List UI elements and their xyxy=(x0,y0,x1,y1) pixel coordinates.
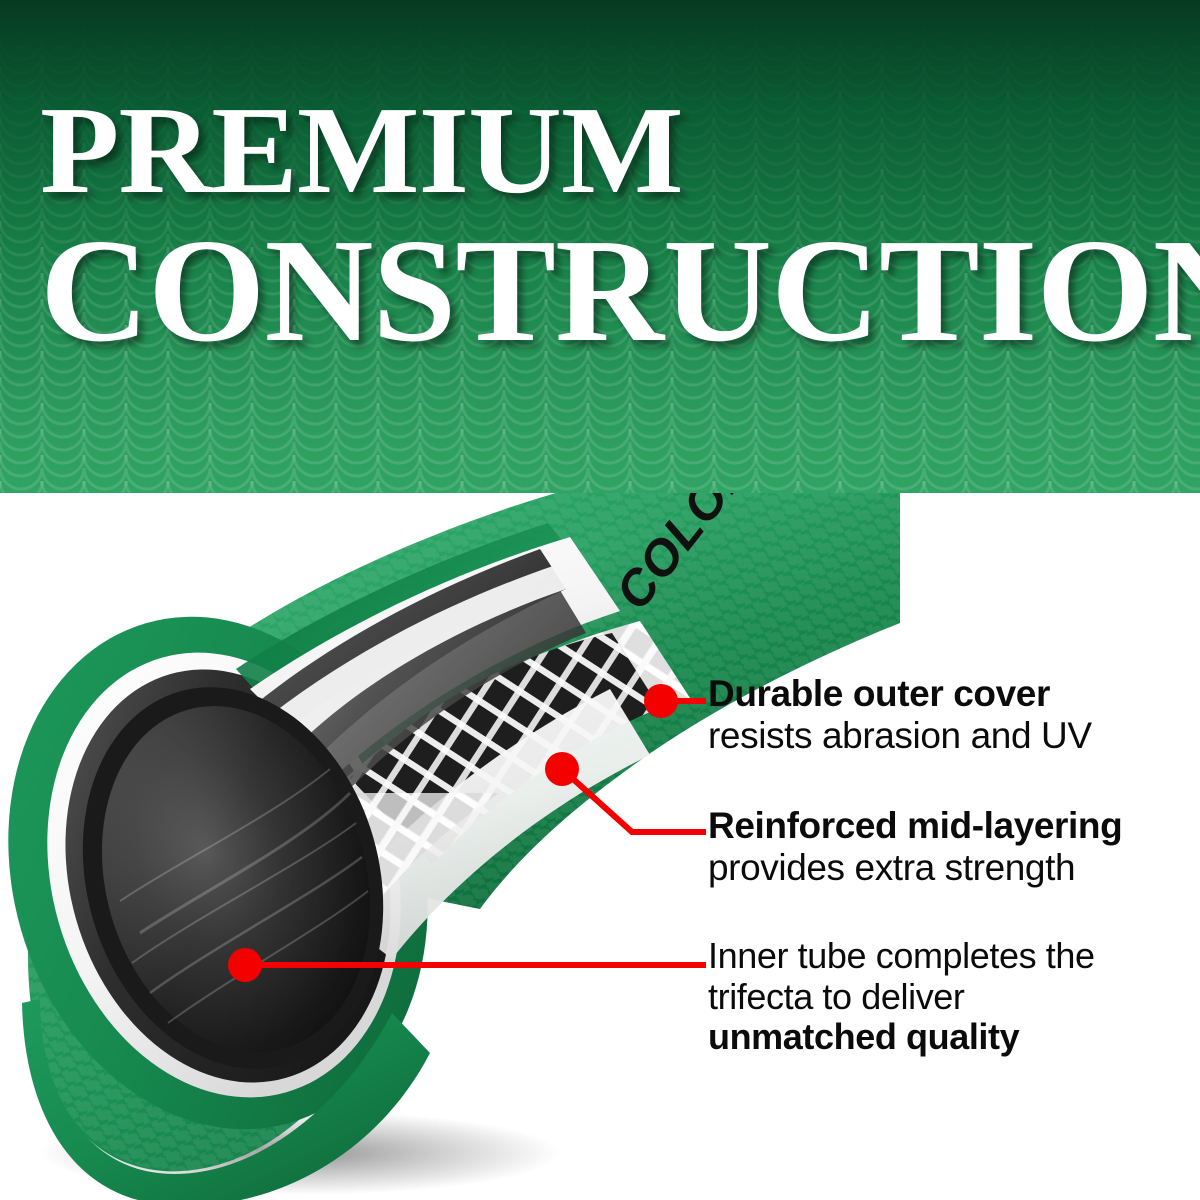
page-title: PREMIUM CONSTRUCTION xyxy=(40,92,1170,361)
callout-outer-cover: Durable outer cover resists abrasion and… xyxy=(708,673,1188,757)
callout-inner-tube: Inner tube completes the trifecta to del… xyxy=(708,936,1188,1058)
callout-inner-tube-line-2: trifecta to deliver xyxy=(708,977,1188,1018)
header-banner: PREMIUM CONSTRUCTION xyxy=(0,0,1200,493)
hose-cutaway-illustration: COLORS Durable outer cover resists abras… xyxy=(0,493,1200,1200)
callout-inner-tube-line-3: unmatched quality xyxy=(708,1017,1188,1058)
product-infographic: PREMIUM CONSTRUCTION xyxy=(0,0,1200,1200)
title-line-2: CONSTRUCTION xyxy=(40,221,1193,362)
title-line-1: PREMIUM xyxy=(40,92,1200,211)
callout-mid-layer-line-1: Reinforced mid-layering xyxy=(708,805,1188,847)
callout-text-group: Durable outer cover resists abrasion and… xyxy=(0,493,1200,1200)
callout-mid-layer: Reinforced mid-layering provides extra s… xyxy=(708,805,1188,889)
callout-inner-tube-line-1: Inner tube completes the xyxy=(708,936,1188,977)
callout-outer-cover-line-2: resists abrasion and UV xyxy=(708,715,1188,757)
callout-mid-layer-line-2: provides extra strength xyxy=(708,847,1188,889)
callout-outer-cover-line-1: Durable outer cover xyxy=(708,673,1188,715)
